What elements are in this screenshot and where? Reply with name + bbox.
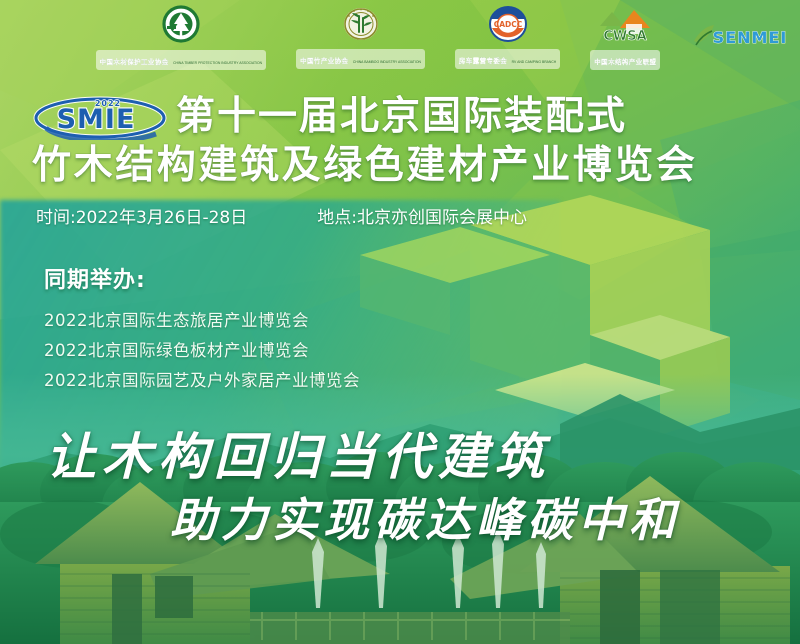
cadcc-badge-icon: CADCC bbox=[488, 5, 528, 48]
concurrent-event-item: 2022北京国际生态旅居产业博览会 bbox=[44, 306, 544, 336]
logo-caption-plate: 中国竹产业协会 CHINA BAMBOO INDUSTRY ASSOCIATIO… bbox=[296, 49, 425, 69]
concurrent-events: 同期举办: 2022北京国际生态旅居产业博览会 2022北京国际绿色板材产业博览… bbox=[44, 262, 544, 396]
smie-logo[interactable]: SMIE 2022 bbox=[32, 94, 168, 140]
concurrent-event-item: 2022北京国际园艺及户外家居产业博览会 bbox=[44, 366, 544, 396]
tree-in-circle-icon bbox=[161, 4, 201, 49]
logo-senmei[interactable]: SENMEI bbox=[690, 19, 794, 56]
exhibition-poster: 中国木材保护工业协会 CHINA TIMBER PROTECTION INDUS… bbox=[0, 0, 800, 644]
logo-label-cn: 房车露营专委会 bbox=[459, 58, 507, 65]
logo-label-cn: 中国木结构产业联盟 bbox=[594, 59, 656, 66]
logo-label-cn: 中国竹产业协会 bbox=[300, 58, 348, 65]
logo-label-en: CHINA BAMBOO INDUSTRY ASSOCIATION bbox=[353, 60, 421, 64]
title-line1-row: SMIE 2022 第十一届北京国际装配式 bbox=[32, 94, 777, 140]
logo-caption-plate: 房车露营专委会 RV AND CAMPING BRANCH bbox=[455, 49, 560, 69]
event-venue: 地点:北京亦创国际会展中心 bbox=[317, 203, 527, 228]
event-meta: 时间:2022年3月26日-28日 地点:北京亦创国际会展中心 bbox=[36, 203, 776, 228]
page-title-line2: 竹木结构建筑及绿色建材产业博览会 bbox=[32, 142, 777, 190]
house-roof-icon: CWSA bbox=[594, 4, 656, 49]
logo-caption-plate: 中国木材保护工业协会 CHINA TIMBER PROTECTION INDUS… bbox=[96, 50, 267, 70]
svg-text:SENMEI: SENMEI bbox=[713, 28, 788, 47]
logo-cadcc-rv-camping-committee[interactable]: CADCC 房车露营专委会 RV AND CAMPING BRANCH bbox=[455, 5, 560, 69]
logo-cwsa-wood-structure-alliance[interactable]: CWSA 中国木结构产业联盟 bbox=[590, 4, 660, 70]
slogan-line2: 助力实现碳达峰碳中和 bbox=[170, 484, 680, 550]
deck-railing bbox=[250, 612, 570, 644]
sponsor-logos-strip: 中国木材保护工业协会 CHINA TIMBER PROTECTION INDUS… bbox=[0, 6, 800, 68]
logo-bamboo-industry-association[interactable]: 中国竹产业协会 CHINA BAMBOO INDUSTRY ASSOCIATIO… bbox=[296, 5, 425, 69]
bamboo-seal-icon bbox=[342, 5, 380, 48]
logo-label-en: CHINA TIMBER PROTECTION INDUSTRY ASSOCIA… bbox=[173, 61, 262, 65]
title-block: SMIE 2022 第十一届北京国际装配式 竹木结构建筑及绿色建材产业博览会 bbox=[32, 94, 777, 190]
leaf-sprout-icon: SENMEI bbox=[690, 19, 794, 56]
page-title-line1: 第十一届北京国际装配式 bbox=[176, 94, 627, 140]
logo-label-en: RV AND CAMPING BRANCH bbox=[512, 60, 557, 64]
event-date: 时间:2022年3月26日-28日 bbox=[36, 203, 247, 228]
svg-text:CWSA: CWSA bbox=[604, 29, 647, 44]
slogan-line1: 让木构回归当代建筑 bbox=[46, 417, 550, 489]
logo-caption-plate: 中国木结构产业联盟 bbox=[590, 50, 660, 70]
svg-text:2022: 2022 bbox=[95, 99, 121, 108]
concurrent-event-item: 2022北京国际绿色板材产业博览会 bbox=[44, 336, 544, 366]
svg-text:CADCC: CADCC bbox=[493, 20, 522, 29]
logo-label-cn: 中国木材保护工业协会 bbox=[100, 59, 169, 66]
logo-china-timber-protection-industry-association[interactable]: 中国木材保护工业协会 CHINA TIMBER PROTECTION INDUS… bbox=[96, 4, 267, 70]
svg-text:SMIE: SMIE bbox=[57, 104, 136, 135]
concurrent-events-heading: 同期举办: bbox=[44, 262, 544, 294]
